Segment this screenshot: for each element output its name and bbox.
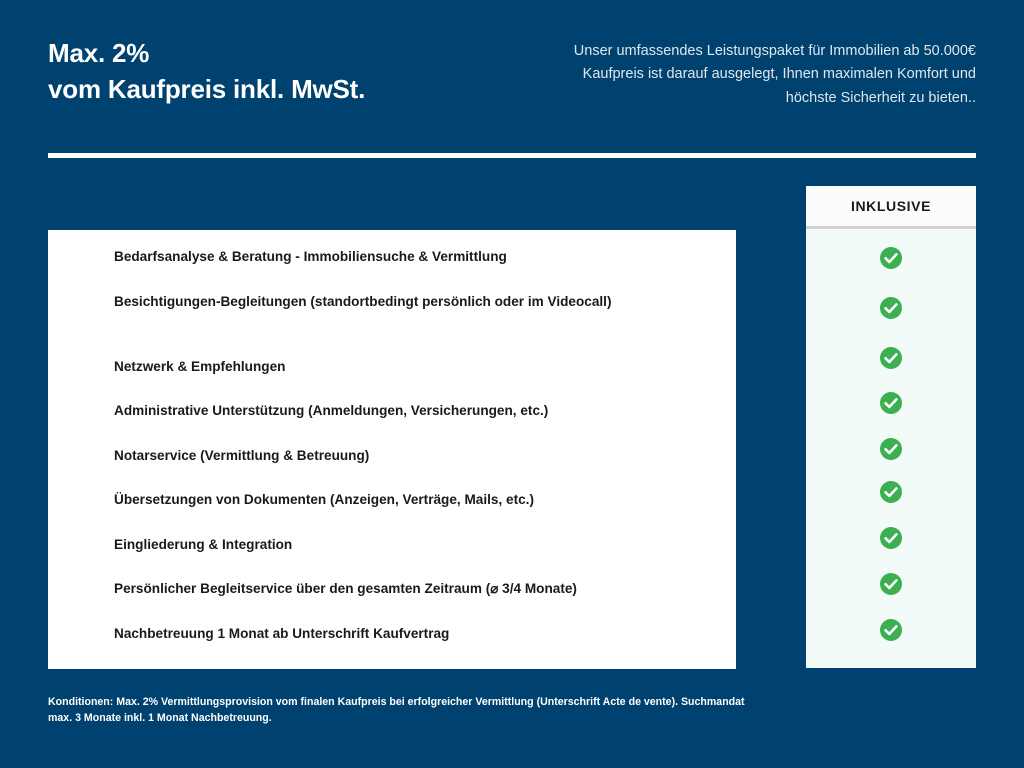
service-item-label: Eingliederung & Integration	[114, 537, 292, 552]
check-circle-icon	[879, 526, 903, 550]
service-item-label: Bedarfsanalyse & Beratung - Immobiliensu…	[114, 249, 507, 264]
inklusive-check-row	[806, 480, 976, 504]
inklusive-header-label: INKLUSIVE	[851, 198, 931, 214]
inklusive-check-row	[806, 526, 976, 550]
service-item-label: Persönlicher Begleitservice über den ges…	[114, 581, 577, 596]
header-divider	[48, 153, 976, 158]
check-circle-icon	[879, 391, 903, 415]
service-item-label: Besichtigungen-Begleitungen (standortbed…	[114, 294, 611, 309]
inklusive-panel: INKLUSIVE	[806, 186, 976, 668]
inklusive-check-row	[806, 391, 976, 415]
footer-conditions: Konditionen: Max. 2% Vermittlungsprovisi…	[48, 695, 748, 727]
service-list-item: Besichtigungen-Begleitungen (standortbed…	[114, 292, 714, 312]
service-list-item: Persönlicher Begleitservice über den ges…	[114, 579, 714, 599]
service-list-item: Netzwerk & Empfehlungen	[114, 357, 714, 377]
inklusive-check-row	[806, 618, 976, 642]
check-circle-icon	[879, 618, 903, 642]
slide-header: Max. 2% vom Kaufpreis inkl. MwSt. Unser …	[48, 32, 976, 132]
service-list-item: Bedarfsanalyse & Beratung - Immobiliensu…	[114, 247, 714, 267]
services-card: Bedarfsanalyse & Beratung - Immobiliensu…	[48, 230, 736, 669]
service-item-label: Administrative Unterstützung (Anmeldunge…	[114, 403, 548, 418]
service-item-label: Netzwerk & Empfehlungen	[114, 359, 285, 374]
service-list-item: Administrative Unterstützung (Anmeldunge…	[114, 401, 714, 421]
inklusive-check-row	[806, 246, 976, 270]
service-item-label: Übersetzungen von Dokumenten (Anzeigen, …	[114, 492, 534, 507]
check-circle-icon	[879, 246, 903, 270]
check-circle-icon	[879, 480, 903, 504]
service-item-label: Nachbetreuung 1 Monat ab Unterschrift Ka…	[114, 626, 449, 641]
service-list-item: Nachbetreuung 1 Monat ab Unterschrift Ka…	[114, 624, 714, 644]
service-list-item: Notarservice (Vermittlung & Betreuung)	[114, 446, 714, 466]
slide-root: Max. 2% vom Kaufpreis inkl. MwSt. Unser …	[0, 0, 1024, 768]
inklusive-check-row	[806, 296, 976, 320]
service-item-label: Notarservice (Vermittlung & Betreuung)	[114, 448, 369, 463]
check-circle-icon	[879, 572, 903, 596]
inklusive-check-row	[806, 437, 976, 461]
check-circle-icon	[879, 346, 903, 370]
check-circle-icon	[879, 437, 903, 461]
inklusive-check-row	[806, 572, 976, 596]
service-list-item: Eingliederung & Integration	[114, 535, 714, 555]
check-circle-icon	[879, 296, 903, 320]
service-list-item: Übersetzungen von Dokumenten (Anzeigen, …	[114, 490, 714, 510]
inklusive-check-row	[806, 346, 976, 370]
inklusive-panel-header: INKLUSIVE	[806, 186, 976, 229]
page-title: Max. 2% vom Kaufpreis inkl. MwSt.	[48, 32, 365, 108]
header-description: Unser umfassendes Leistungspaket für Imm…	[564, 32, 976, 110]
